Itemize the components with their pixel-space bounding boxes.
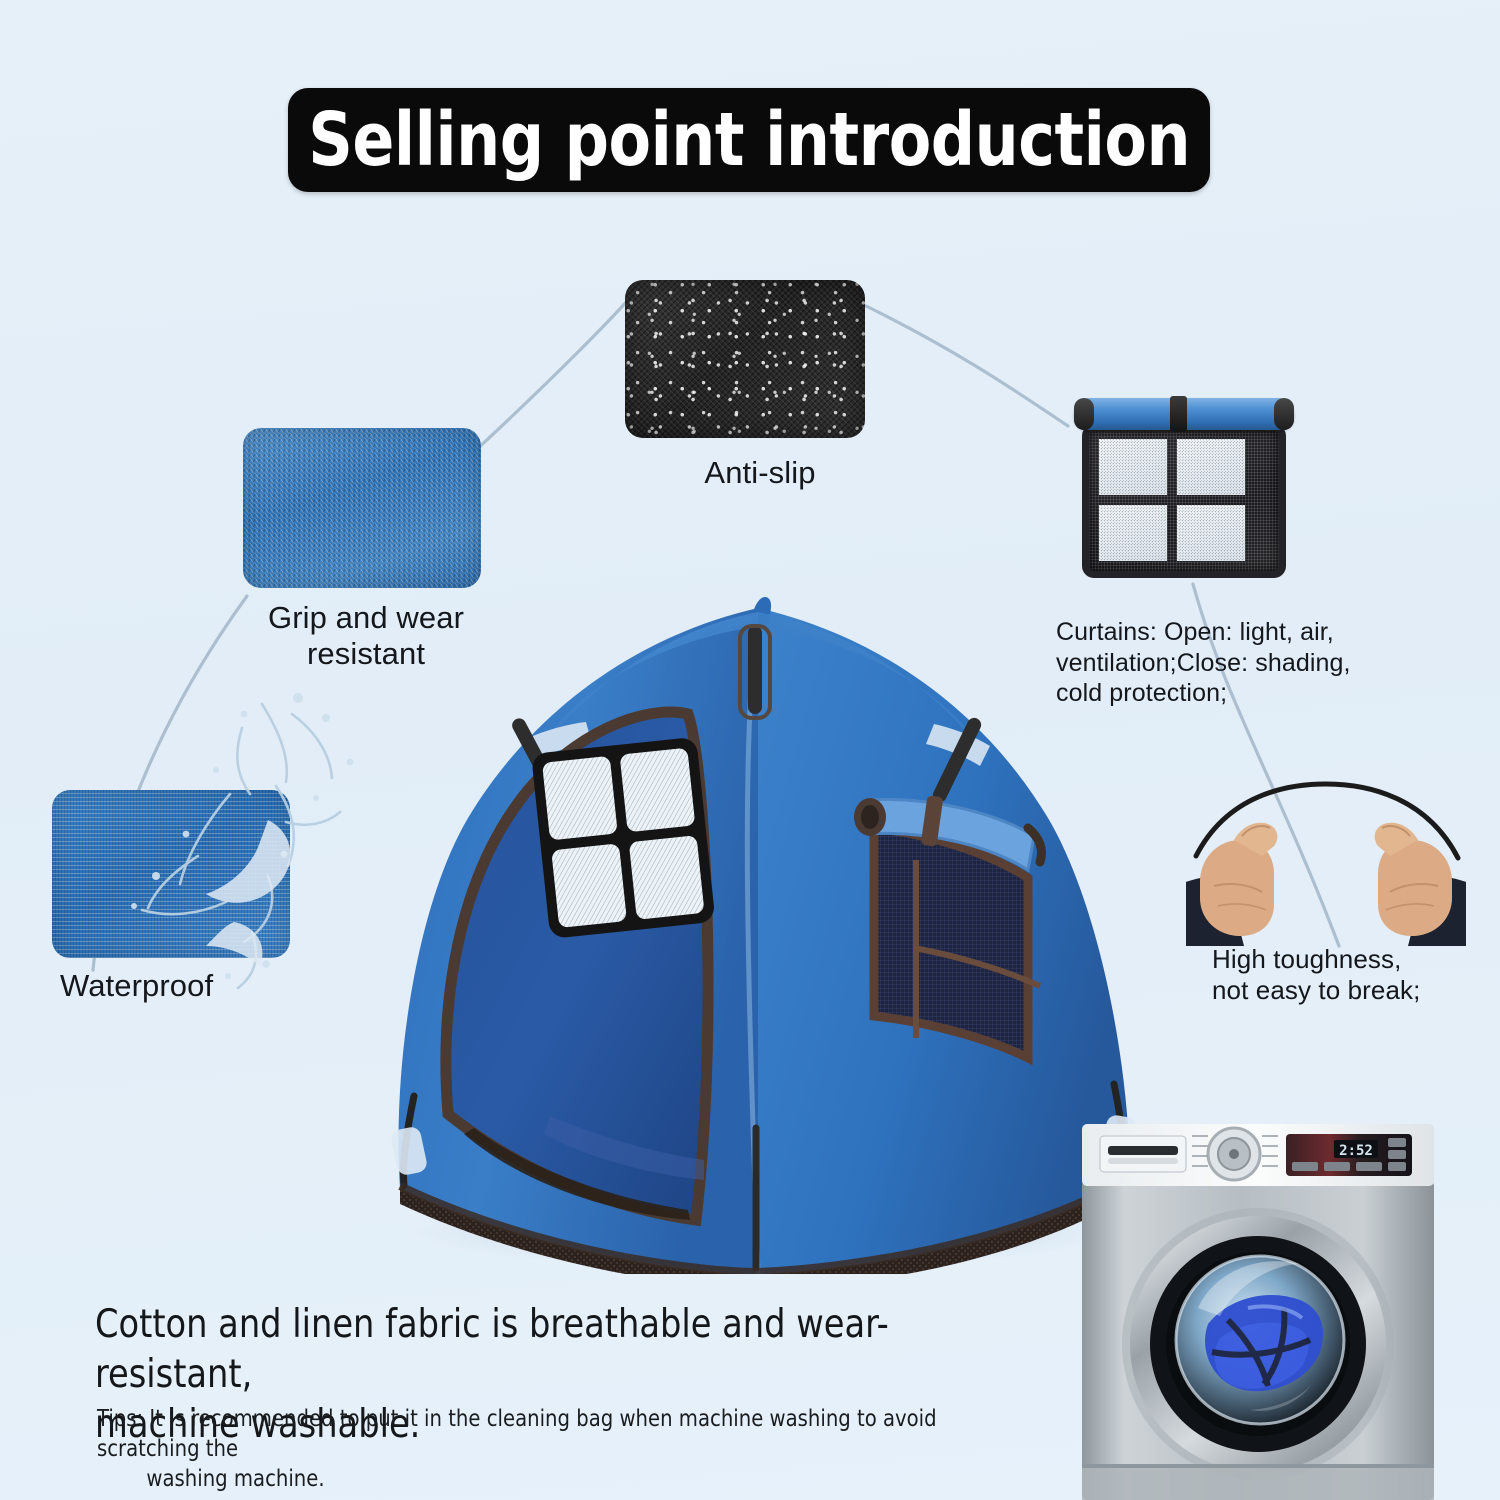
- door-mesh-pane-top-left: [542, 756, 618, 841]
- pole-sleeve-center: [748, 626, 762, 714]
- hands-bending-pole-photo: [1178, 778, 1474, 946]
- product-image-pet-tent: [288, 568, 1196, 1274]
- line-antislip-to-curtain: [866, 306, 1068, 426]
- label-toughness-line-2: not easy to break;: [1212, 975, 1472, 1006]
- washer-display-value: 2:52: [1339, 1143, 1373, 1159]
- curtain-strap: [1170, 396, 1187, 432]
- door-mesh-pane-top-right: [620, 748, 696, 833]
- swatch-anti-slip: [625, 280, 865, 438]
- curtain-cap-right: [1274, 398, 1294, 430]
- side-vent-group: [854, 795, 1042, 1058]
- page-title: Selling point introduction: [308, 103, 1190, 177]
- label-high-toughness: High toughness, not easy to break;: [1212, 944, 1472, 1006]
- mesh-pane-top-left: [1099, 439, 1167, 495]
- left-hand: [1186, 823, 1277, 946]
- curtain-cap-left: [1074, 398, 1094, 430]
- label-anti-slip: Anti-slip: [650, 455, 870, 491]
- page-title-banner: Selling point introduction: [288, 88, 1210, 192]
- label-toughness-line-1: High toughness,: [1212, 944, 1472, 975]
- bottom-headline-line-1: Cotton and linen fabric is breathable an…: [95, 1300, 1017, 1400]
- mesh-pane-bottom-right: [1177, 505, 1245, 561]
- washer-plinth: [1082, 1464, 1434, 1500]
- mesh-pane-bottom-left: [1099, 505, 1167, 561]
- swatch-waterproof: [52, 790, 290, 958]
- washing-machine-image: 2:52: [1062, 1112, 1482, 1500]
- door-mesh-window: [531, 737, 716, 939]
- swatch-grip-and-wear: [243, 428, 481, 588]
- swatch-curtain-mesh-panel: [1068, 398, 1300, 578]
- rolled-curtain: [1074, 398, 1294, 430]
- bottom-tip: Tips: It is recommended to put it in the…: [97, 1405, 1009, 1495]
- right-hand: [1375, 823, 1466, 946]
- door-mesh-pane-bottom-left: [551, 843, 627, 928]
- mesh-panel: [1082, 424, 1286, 578]
- door-mesh-pane-bottom-right: [629, 835, 705, 920]
- bottom-tip-line-1: Tips: It is recommended to put it in the…: [97, 1405, 1009, 1465]
- infographic-page: Selling point introduction Anti-slip Gri…: [0, 0, 1500, 1500]
- bottom-tip-line-2: washing machine.: [97, 1465, 1009, 1495]
- line-grip-to-antislip: [474, 300, 628, 452]
- label-waterproof: Waterproof: [60, 968, 310, 1004]
- mesh-pane-top-right: [1177, 439, 1245, 495]
